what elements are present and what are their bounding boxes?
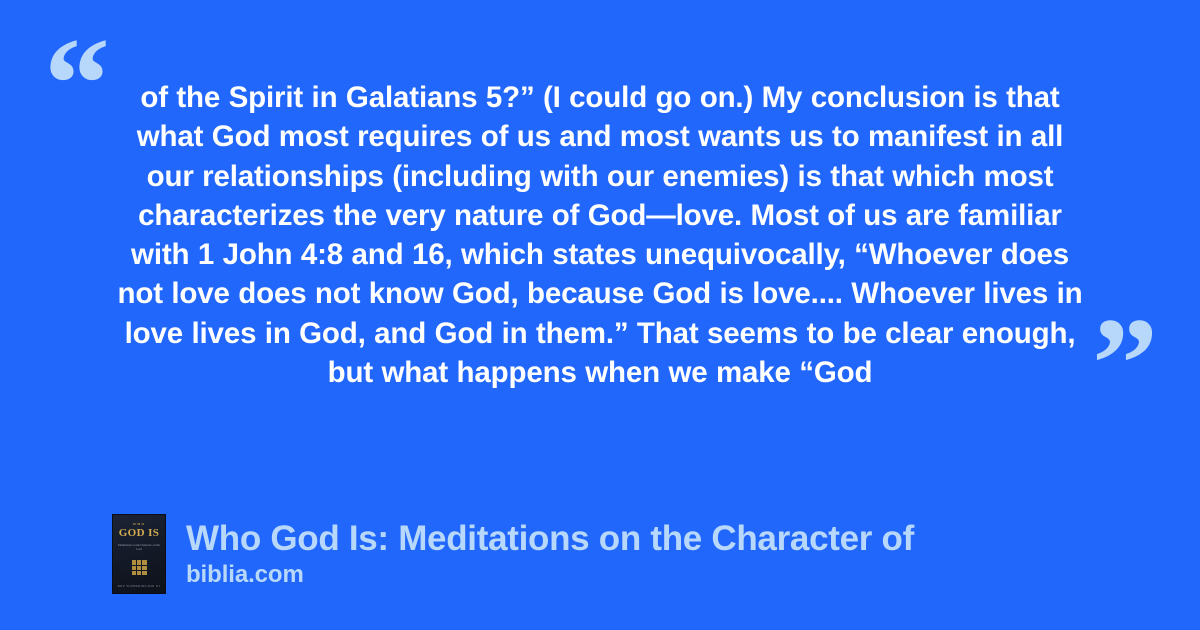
footer: Who GOD IS Meditations on the Character …	[112, 514, 914, 594]
book-title: Who God Is: Meditations on the Character…	[186, 521, 914, 558]
book-cover-subtitle: Meditations on the Character of Our Lord	[118, 543, 160, 552]
quote-card: “ of the Spirit in Galatians 5?” (I coul…	[0, 0, 1200, 630]
book-cover-overline: Who	[133, 522, 146, 526]
site-name: biblia.com	[186, 562, 914, 587]
book-cover-title: GOD IS	[119, 528, 160, 539]
quote-text: of the Spirit in Galatians 5?” (I could …	[110, 78, 1090, 392]
opening-quote-mark-icon: “	[44, 18, 110, 150]
closing-quote-mark-icon: ”	[1092, 298, 1158, 430]
book-cover-thumbnail[interactable]: Who GOD IS Meditations on the Character …	[112, 514, 166, 594]
book-cover-author: Roy Witherington III	[113, 584, 165, 588]
footer-text-block: Who God Is: Meditations on the Character…	[186, 521, 914, 587]
quote-block: of the Spirit in Galatians 5?” (I could …	[110, 78, 1090, 392]
book-cover-grid-ornament	[132, 560, 147, 575]
